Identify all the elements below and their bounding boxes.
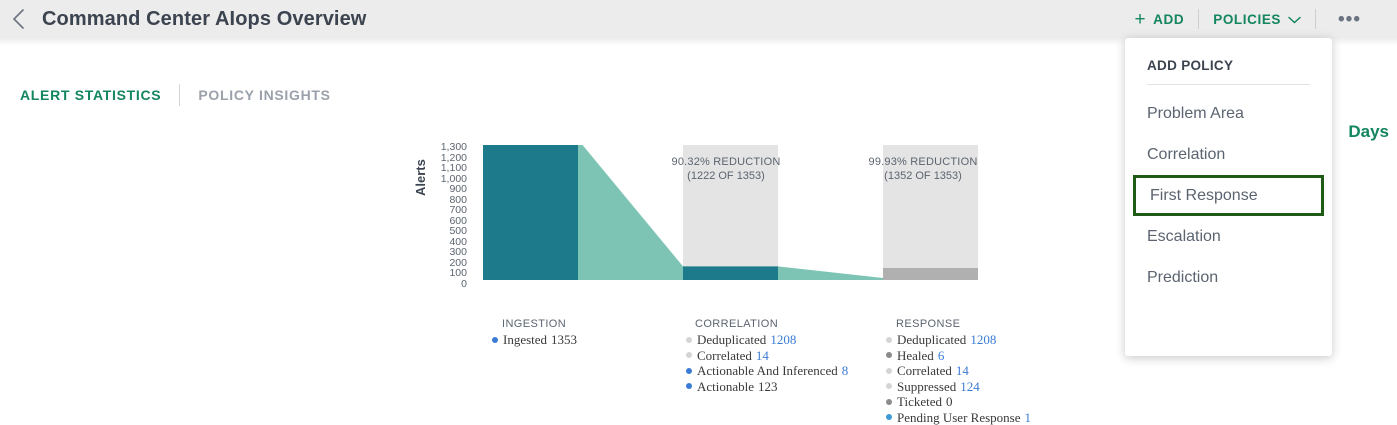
- legend-value[interactable]: 1208: [770, 332, 796, 348]
- reduction-annotation-response: 99.93% REDUCTION (1352 OF 1353): [838, 156, 1008, 184]
- legend-label: Healed: [897, 348, 934, 364]
- legend-item: Correlated14: [886, 363, 1031, 379]
- add-button[interactable]: + ADD: [1120, 10, 1198, 29]
- legend-correlation: Deduplicated1208Correlated14Actionable A…: [686, 332, 848, 394]
- reduction-of: (1352 OF 1353): [838, 170, 1008, 184]
- policies-button-label: POLICIES: [1213, 12, 1281, 27]
- y-tick: 700: [449, 205, 467, 216]
- ellipsis-icon: •••: [1330, 10, 1369, 29]
- legend-label: Actionable: [697, 379, 754, 395]
- x-label-response: RESPONSE: [896, 318, 960, 330]
- dropdown-item-first-response[interactable]: First Response: [1133, 175, 1324, 216]
- legend-bullet-icon: [686, 383, 692, 389]
- y-tick: 500: [449, 226, 467, 237]
- header-actions: + ADD POLICIES •••: [1120, 0, 1397, 38]
- legend-value[interactable]: 124: [960, 379, 980, 395]
- legend-label: Ticketed: [897, 394, 942, 410]
- x-label-correlation: CORRELATION: [695, 318, 778, 330]
- legend-value[interactable]: 14: [756, 348, 769, 364]
- dropdown-item-prediction[interactable]: Prediction: [1125, 257, 1332, 298]
- policies-dropdown-button[interactable]: POLICIES: [1199, 12, 1315, 27]
- legend-item: Healed6: [886, 348, 1031, 364]
- legend-label: Deduplicated: [897, 332, 966, 348]
- legend-label: Suppressed: [897, 379, 956, 395]
- legend-item: Correlated14: [686, 348, 848, 364]
- legend-value: 123: [758, 379, 778, 395]
- legend-item: Actionable123: [686, 379, 848, 395]
- dropdown-list: Problem Area Correlation First Response …: [1125, 85, 1332, 298]
- bar-correlation: [683, 266, 778, 280]
- legend-bullet-icon: [886, 399, 892, 405]
- legend-bullet-icon: [886, 368, 892, 374]
- y-tick: 300: [449, 247, 467, 258]
- chevron-down-icon: [1288, 12, 1301, 27]
- legend-label: Actionable And Inferenced: [697, 363, 838, 379]
- legend-label: Pending User Response: [897, 410, 1021, 425]
- dropdown-title: ADD POLICY: [1125, 38, 1332, 73]
- legend-label: Correlated: [697, 348, 752, 364]
- app-header: Command Center AIops Overview + ADD POLI…: [0, 0, 1397, 38]
- legend-response: Deduplicated1208Healed6Correlated14Suppr…: [886, 332, 1031, 425]
- legend-item: Deduplicated1208: [886, 332, 1031, 348]
- reduction-of: (1222 OF 1353): [641, 170, 811, 184]
- legend-item: Ticketed0: [886, 394, 1031, 410]
- legend-item: Actionable And Inferenced8: [686, 363, 848, 379]
- reduction-pct: 99.93% REDUCTION: [838, 156, 1008, 170]
- legend-bullet-icon: [686, 368, 692, 374]
- legend-value: 1353: [551, 332, 577, 348]
- y-axis-title: Alerts: [413, 159, 428, 196]
- x-label-ingestion: INGESTION: [502, 318, 566, 330]
- legend-bullet-icon: [686, 337, 692, 343]
- legend-value: 0: [946, 394, 953, 410]
- back-button[interactable]: [0, 0, 36, 38]
- add-button-label: ADD: [1153, 12, 1184, 27]
- bar-ingestion: [483, 145, 578, 280]
- y-tick: 1,100: [441, 163, 467, 174]
- legend-bullet-icon: [886, 414, 892, 420]
- legend-bullet-icon: [686, 352, 692, 358]
- legend-ingestion: Ingested1353: [492, 332, 577, 348]
- dropdown-item-correlation[interactable]: Correlation: [1125, 134, 1332, 175]
- legend-bullet-icon: [492, 337, 498, 343]
- bar-response: [883, 268, 978, 280]
- y-axis-ticks: 1,300 1,200 1,100 1,000 900 800 700 600 …: [429, 142, 467, 281]
- reduction-pct: 90.32% REDUCTION: [641, 156, 811, 170]
- legend-item: Ingested1353: [492, 332, 577, 348]
- plus-icon: +: [1134, 10, 1146, 29]
- add-policy-dropdown: ADD POLICY Problem Area Correlation Firs…: [1125, 38, 1332, 356]
- legend-item: Suppressed124: [886, 379, 1031, 395]
- y-tick: 100: [449, 268, 467, 279]
- legend-item: Deduplicated1208: [686, 332, 848, 348]
- legend-label: Ingested: [503, 332, 547, 348]
- legend-item: Pending User Response1: [886, 410, 1031, 425]
- legend-bullet-icon: [886, 337, 892, 343]
- dropdown-item-problem-area[interactable]: Problem Area: [1125, 93, 1332, 134]
- page-title: Command Center AIops Overview: [42, 8, 366, 31]
- legend-bullet-icon: [886, 383, 892, 389]
- legend-bullet-icon: [886, 352, 892, 358]
- overflow-menu-button[interactable]: •••: [1316, 10, 1383, 29]
- dropdown-item-escalation[interactable]: Escalation: [1125, 216, 1332, 257]
- legend-value[interactable]: 6: [938, 348, 945, 364]
- legend-value[interactable]: 1: [1025, 410, 1032, 425]
- reduction-annotation-correlation: 90.32% REDUCTION (1222 OF 1353): [641, 156, 811, 184]
- legend-value[interactable]: 1208: [970, 332, 996, 348]
- chevron-left-icon: [12, 9, 25, 29]
- legend-value[interactable]: 8: [842, 363, 849, 379]
- legend-label: Deduplicated: [697, 332, 766, 348]
- y-tick: 0: [461, 279, 467, 290]
- y-tick: 1,300: [441, 142, 467, 153]
- y-tick: 900: [449, 184, 467, 195]
- connector-correlation-response: [778, 266, 883, 280]
- legend-label: Correlated: [897, 363, 952, 379]
- legend-value[interactable]: 14: [956, 363, 969, 379]
